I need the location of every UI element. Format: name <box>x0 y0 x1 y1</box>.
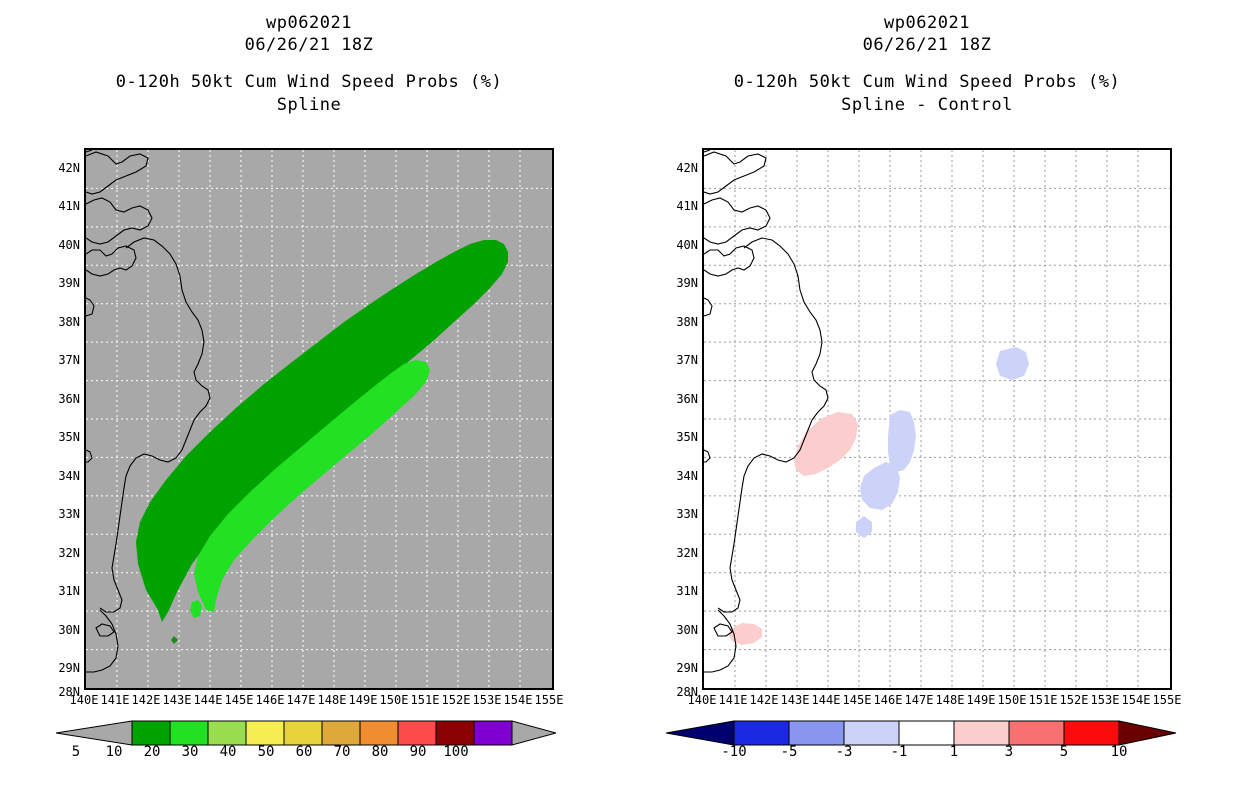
y-label: 37N <box>40 354 80 366</box>
y-label: 33N <box>40 508 80 520</box>
contour-negative-patch-upper <box>888 410 916 472</box>
contour-positive-patch-south <box>728 623 762 645</box>
y-label: 38N <box>658 316 698 328</box>
colorbar-tick: 20 <box>132 744 172 760</box>
y-label: 34N <box>40 470 80 482</box>
gridlines-right <box>704 150 1170 688</box>
colorbar-tick: 5 <box>1044 744 1084 760</box>
main-title-left: 0-120h 50kt Cum Wind Speed Probs (%) <box>0 70 618 94</box>
y-label: 37N <box>658 354 698 366</box>
colorbar-tick: 50 <box>246 744 286 760</box>
y-label: 41N <box>40 200 80 212</box>
y-label: 29N <box>658 662 698 674</box>
colorbar-tick: 60 <box>284 744 324 760</box>
contour-fragment-b <box>171 636 178 644</box>
y-label: 29N <box>40 662 80 674</box>
contour-positive-patch-main <box>794 412 858 476</box>
colorbar-tick: 30 <box>170 744 210 760</box>
y-label: 32N <box>658 547 698 559</box>
y-label: 36N <box>658 393 698 405</box>
panel-spline: wp062021 06/26/21 18Z 0-120h 50kt Cum Wi… <box>0 0 618 800</box>
map-overlay-right <box>704 150 1170 688</box>
panel-spline-minus-control: wp062021 06/26/21 18Z 0-120h 50kt Cum Wi… <box>618 0 1236 800</box>
colorbar-start-arrow-right <box>666 721 734 745</box>
y-label: 38N <box>40 316 80 328</box>
x-label: 155E <box>1147 694 1187 706</box>
probability-contours-left <box>136 240 508 644</box>
colorbar-tick: -10 <box>714 744 754 760</box>
colorbar-tick: 70 <box>322 744 362 760</box>
y-label: 39N <box>40 277 80 289</box>
sub-title-left: Spline <box>0 94 618 116</box>
colorbar-labels-right: -10 -5 -3 -1 1 3 5 10 <box>618 744 1236 760</box>
y-label: 32N <box>40 547 80 559</box>
y-label: 39N <box>658 277 698 289</box>
panel-titles-left: wp062021 06/26/21 18Z 0-120h 50kt Cum Wi… <box>0 12 618 116</box>
main-title-right: 0-120h 50kt Cum Wind Speed Probs (%) <box>618 70 1236 94</box>
x-label: 155E <box>529 694 569 706</box>
colorbar-end-arrow-left <box>512 721 556 745</box>
y-label: 42N <box>40 162 80 174</box>
colorbar-tick: 10 <box>94 744 134 760</box>
map-canvas-left[interactable] <box>84 148 554 690</box>
colorbar-tick: 80 <box>360 744 400 760</box>
colorbar-tick: 5 <box>56 744 96 760</box>
y-label: 33N <box>658 508 698 520</box>
colorbar-tick: -3 <box>824 744 864 760</box>
y-label: 40N <box>40 239 80 251</box>
colorbar-tick: 100 <box>436 744 476 760</box>
y-label: 30N <box>40 624 80 636</box>
contour-negative-patch-north <box>996 347 1029 380</box>
contour-negative-patch-lower <box>860 462 900 510</box>
y-label: 30N <box>658 624 698 636</box>
panel-titles-right: wp062021 06/26/21 18Z 0-120h 50kt Cum Wi… <box>618 12 1236 116</box>
storm-id-right: wp062021 <box>618 12 1236 34</box>
y-label: 40N <box>658 239 698 251</box>
colorbar-tick: 1 <box>934 744 974 760</box>
colorbar-tick: 3 <box>989 744 1029 760</box>
colorbar-tick: 90 <box>398 744 438 760</box>
map-overlay-left <box>86 150 552 688</box>
map-canvas-right[interactable] <box>702 148 1172 690</box>
datetime-left: 06/26/21 18Z <box>0 34 618 56</box>
colorbar-labels-left: 5 10 20 30 40 50 60 70 80 90 100 <box>0 744 618 760</box>
y-label: 41N <box>658 200 698 212</box>
sub-title-right: Spline - Control <box>618 94 1236 116</box>
colorbar-tick: 10 <box>1099 744 1139 760</box>
colorbar-end-arrow-right <box>1119 721 1176 745</box>
colorbar-tick: 40 <box>208 744 248 760</box>
storm-id-left: wp062021 <box>0 12 618 34</box>
y-label: 35N <box>40 431 80 443</box>
colorbar-tick: -1 <box>879 744 919 760</box>
y-label: 36N <box>40 393 80 405</box>
difference-contours-right <box>728 347 1029 645</box>
contour-10-20-percent-fragment-a <box>190 600 202 618</box>
colorbar-start-arrow-left <box>56 721 132 745</box>
y-label: 35N <box>658 431 698 443</box>
y-label: 31N <box>658 585 698 597</box>
y-label: 34N <box>658 470 698 482</box>
y-label: 31N <box>40 585 80 597</box>
y-label: 42N <box>658 162 698 174</box>
datetime-right: 06/26/21 18Z <box>618 34 1236 56</box>
colorbar-tick: -5 <box>769 744 809 760</box>
